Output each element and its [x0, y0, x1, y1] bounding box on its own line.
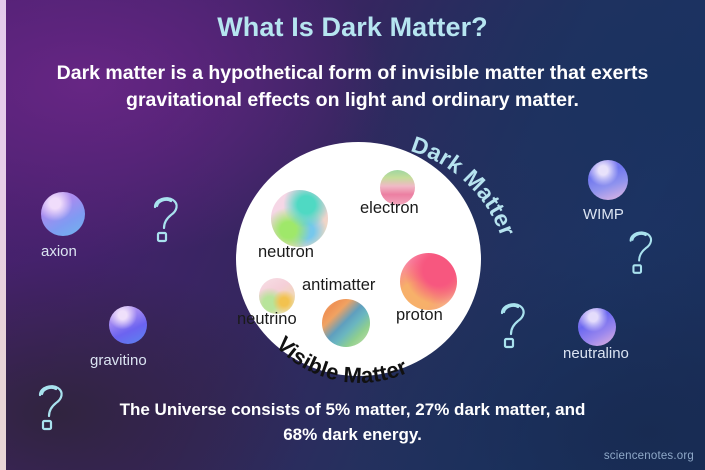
particle-label-neutrino: neutrino [237, 310, 297, 329]
page-subtitle: Dark matter is a hypothetical form of in… [28, 60, 677, 114]
universe-composition-text: The Universe consists of 5% matter, 27% … [110, 398, 595, 447]
particle-label-axion: axion [41, 243, 77, 260]
question-mark-icon [148, 194, 184, 246]
particle-neutron[interactable] [271, 190, 328, 247]
question-mark-icon [495, 300, 531, 352]
particle-antimatter[interactable] [322, 299, 370, 347]
particle-label-wimp: WIMP [583, 206, 624, 223]
particle-neutrino[interactable] [259, 278, 295, 314]
left-edge-accent-strip [0, 0, 6, 470]
infographic-canvas: What Is Dark Matter? Dark matter is a hy… [0, 0, 705, 470]
particle-proton[interactable] [400, 253, 457, 310]
particle-label-neutron: neutron [258, 243, 314, 262]
particle-label-electron: electron [360, 199, 419, 218]
particle-axion[interactable] [41, 192, 85, 236]
particle-gravitino[interactable] [109, 306, 147, 344]
particle-label-gravitino: gravitino [90, 352, 147, 369]
particle-neutralino[interactable] [578, 308, 616, 346]
source-credit: sciencenotes.org [604, 450, 694, 462]
particle-label-proton: proton [396, 306, 443, 325]
particle-label-antimatter: antimatter [302, 276, 375, 295]
particle-wimp[interactable] [588, 160, 628, 200]
question-mark-icon [33, 382, 69, 434]
question-mark-icon [624, 228, 658, 278]
particle-label-neutralino: neutralino [563, 345, 629, 362]
page-title: What Is Dark Matter? [0, 12, 705, 43]
